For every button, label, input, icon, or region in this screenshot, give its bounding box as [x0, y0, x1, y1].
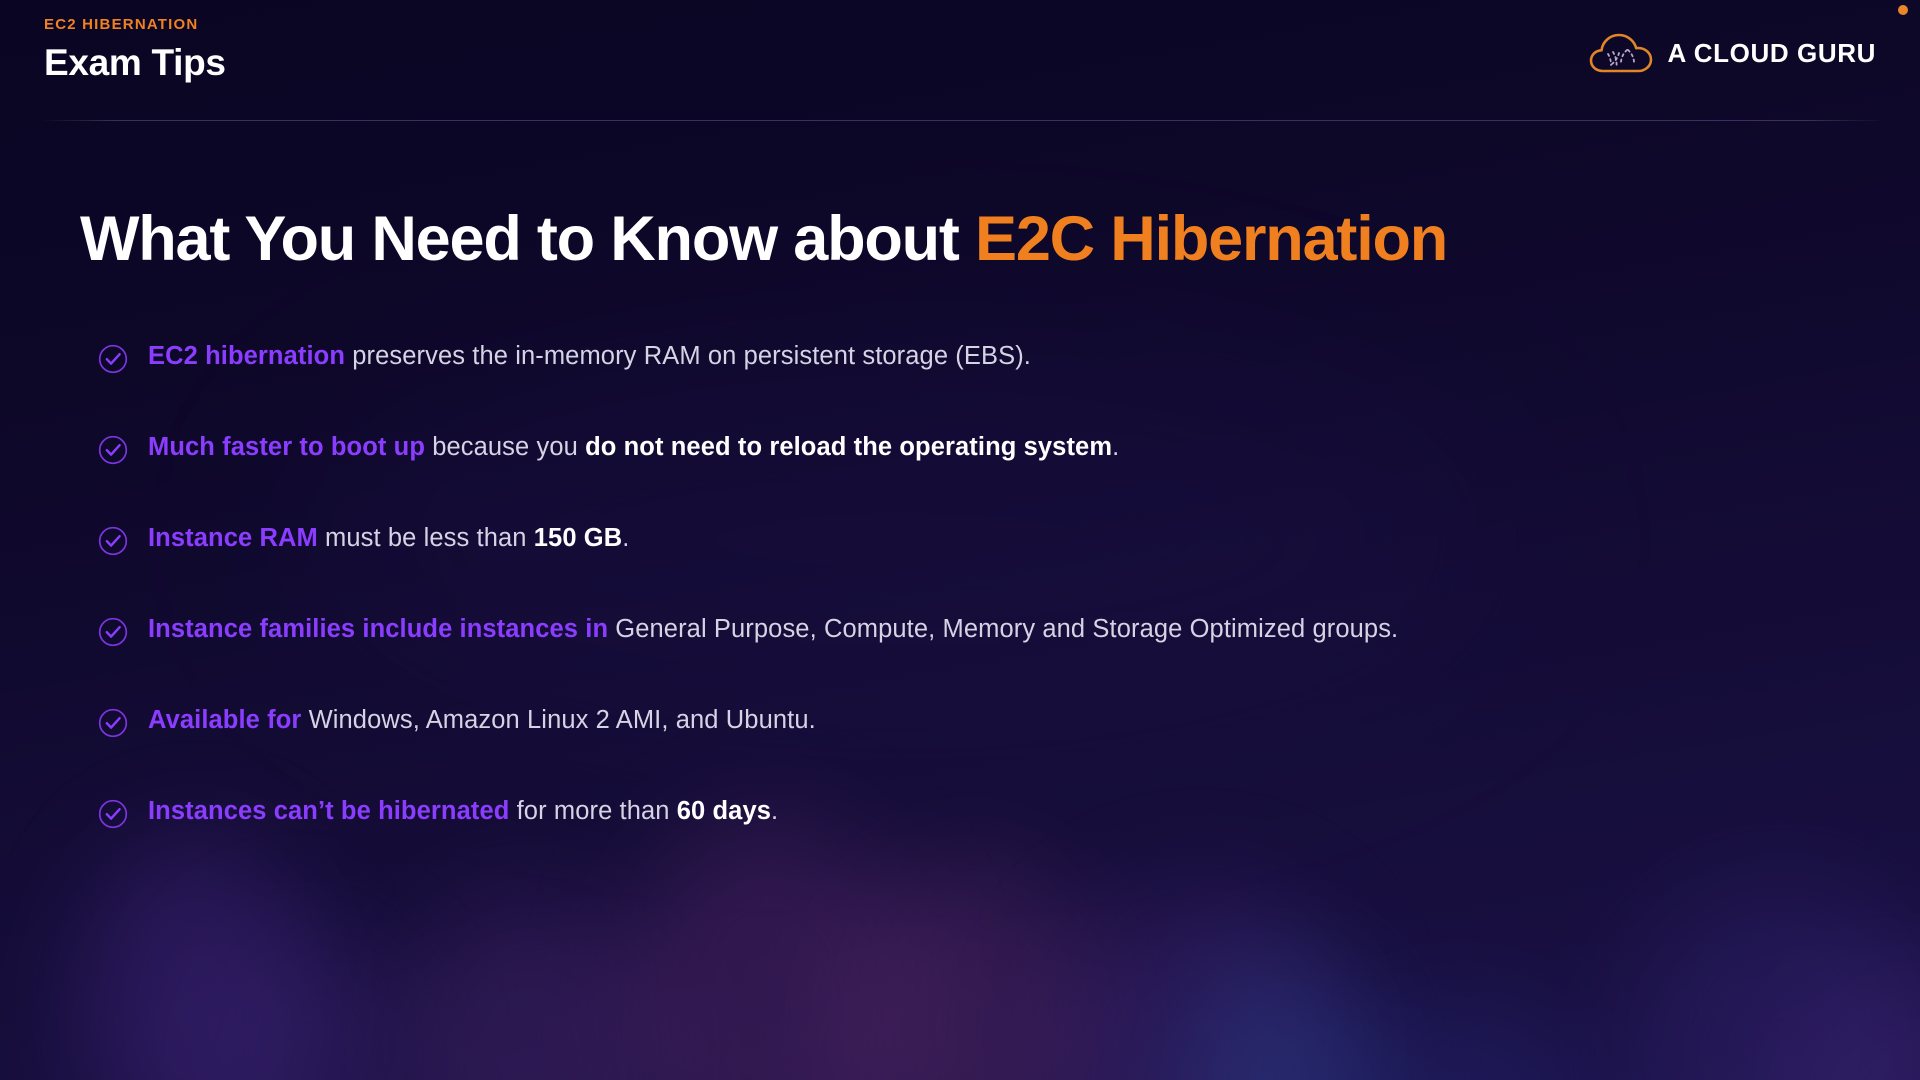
background-blob — [840, 860, 1100, 1080]
list-item-text: EC2 hibernation preserves the in-memory … — [148, 340, 1031, 372]
background-blob — [200, 930, 410, 1080]
list-item-segment-normal: preserves the in-memory RAM on persisten… — [345, 342, 1031, 370]
background-blob — [1760, 960, 1920, 1080]
background-blob — [1180, 960, 1380, 1080]
check-circle-icon — [98, 708, 128, 738]
brand-logo: A CLOUD GURU — [1588, 30, 1876, 76]
brand-name: A CLOUD GURU — [1668, 38, 1876, 69]
page-title-accent: E2C Hibernation — [975, 204, 1447, 274]
list-item: Available for Windows, Amazon Linux 2 AM… — [98, 704, 1858, 795]
corner-accent-dot — [1898, 5, 1908, 15]
list-item-segment-lead: Instances can’t be hibernated — [148, 797, 509, 825]
list-item-segment-lead: Available for — [148, 706, 301, 734]
list-item-segment-strong: do not need to reload the operating syst… — [585, 433, 1112, 461]
background-blob — [1050, 890, 1350, 1080]
list-item-segment-lead: Instance RAM — [148, 524, 318, 552]
slide-header: EC2 HIBERNATION Exam Tips A CLOUD GURU — [0, 0, 1920, 122]
list-item: Instance families include instances in G… — [98, 613, 1858, 704]
check-circle-icon — [98, 617, 128, 647]
bullet-list: EC2 hibernation preserves the in-memory … — [98, 340, 1858, 886]
check-circle-icon — [98, 799, 128, 829]
background-blob — [400, 900, 660, 1080]
cloud-outline-icon — [1588, 30, 1654, 76]
list-item: Instances can’t be hibernated for more t… — [98, 795, 1858, 886]
list-item-segment-lead: Much faster to boot up — [148, 433, 425, 461]
list-item-segment-normal: . — [1112, 433, 1119, 461]
list-item-segment-strong: 60 days — [677, 797, 771, 825]
list-item-segment-strong: 150 GB — [534, 524, 622, 552]
list-item-text: Available for Windows, Amazon Linux 2 AM… — [148, 704, 816, 736]
check-circle-icon — [98, 526, 128, 556]
list-item-segment-lead: Instance families include instances in — [148, 615, 608, 643]
list-item-segment-normal: Windows, Amazon Linux 2 AMI, and Ubuntu. — [301, 706, 815, 734]
slide-root: EC2 HIBERNATION Exam Tips A CLOUD GURU W… — [0, 0, 1920, 1080]
check-circle-icon — [98, 435, 128, 465]
list-item: EC2 hibernation preserves the in-memory … — [98, 340, 1858, 431]
list-item-segment-lead: EC2 hibernation — [148, 342, 345, 370]
check-circle-icon — [98, 344, 128, 374]
background-blob — [1330, 1000, 1590, 1080]
header-title: Exam Tips — [44, 42, 226, 85]
header-titles: EC2 HIBERNATION Exam Tips — [44, 16, 226, 85]
list-item-segment-normal: . — [771, 797, 778, 825]
list-item-segment-normal: General Purpose, Compute, Memory and Sto… — [608, 615, 1398, 643]
background-blob — [1620, 880, 1920, 1080]
header-divider — [44, 120, 1879, 121]
list-item-segment-normal: must be less than — [318, 524, 534, 552]
list-item-segment-normal: for more than — [509, 797, 676, 825]
list-item-segment-normal: . — [622, 524, 629, 552]
list-item: Instance RAM must be less than 150 GB. — [98, 522, 1858, 613]
list-item: Much faster to boot up because you do no… — [98, 431, 1858, 522]
header-eyebrow: EC2 HIBERNATION — [44, 16, 226, 34]
page-title-plain: What You Need to Know about — [80, 204, 975, 274]
list-item-segment-normal: because you — [425, 433, 585, 461]
list-item-text: Instances can’t be hibernated for more t… — [148, 795, 778, 827]
list-item-text: Much faster to boot up because you do no… — [148, 431, 1119, 463]
list-item-text: Instance RAM must be less than 150 GB. — [148, 522, 629, 554]
list-item-text: Instance families include instances in G… — [148, 613, 1398, 645]
page-title: What You Need to Know about E2C Hibernat… — [80, 205, 1447, 274]
